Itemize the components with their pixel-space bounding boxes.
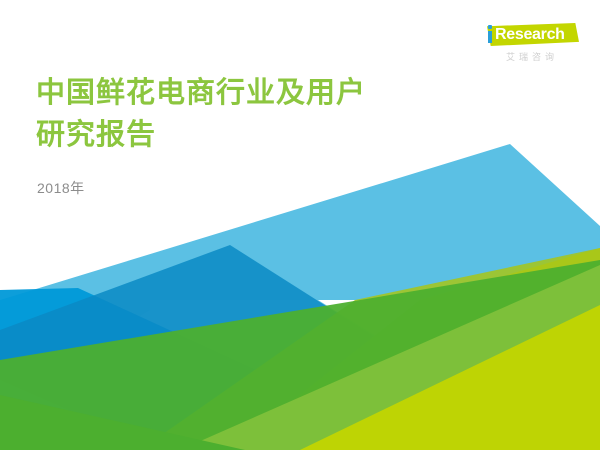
logo-wordmark: Research [495, 25, 579, 45]
page-title-line-1: 中国鲜花电商行业及用户 [36, 72, 496, 114]
page-subtitle-year: 2018年 [37, 178, 85, 198]
logo-mark: Research [479, 22, 583, 48]
iresearch-logo: Research 艾瑞咨询 [479, 22, 583, 70]
logo-i-stem-icon [488, 31, 492, 43]
logo-chinese-name: 艾瑞咨询 [489, 50, 575, 63]
logo-i-dot-icon [488, 25, 492, 29]
title-slide: Research 艾瑞咨询 中国鲜花电商行业及用户 研究报告 2018年 [0, 0, 600, 450]
page-title: 中国鲜花电商行业及用户 研究报告 [36, 72, 496, 156]
page-title-line-2: 研究报告 [36, 114, 496, 156]
